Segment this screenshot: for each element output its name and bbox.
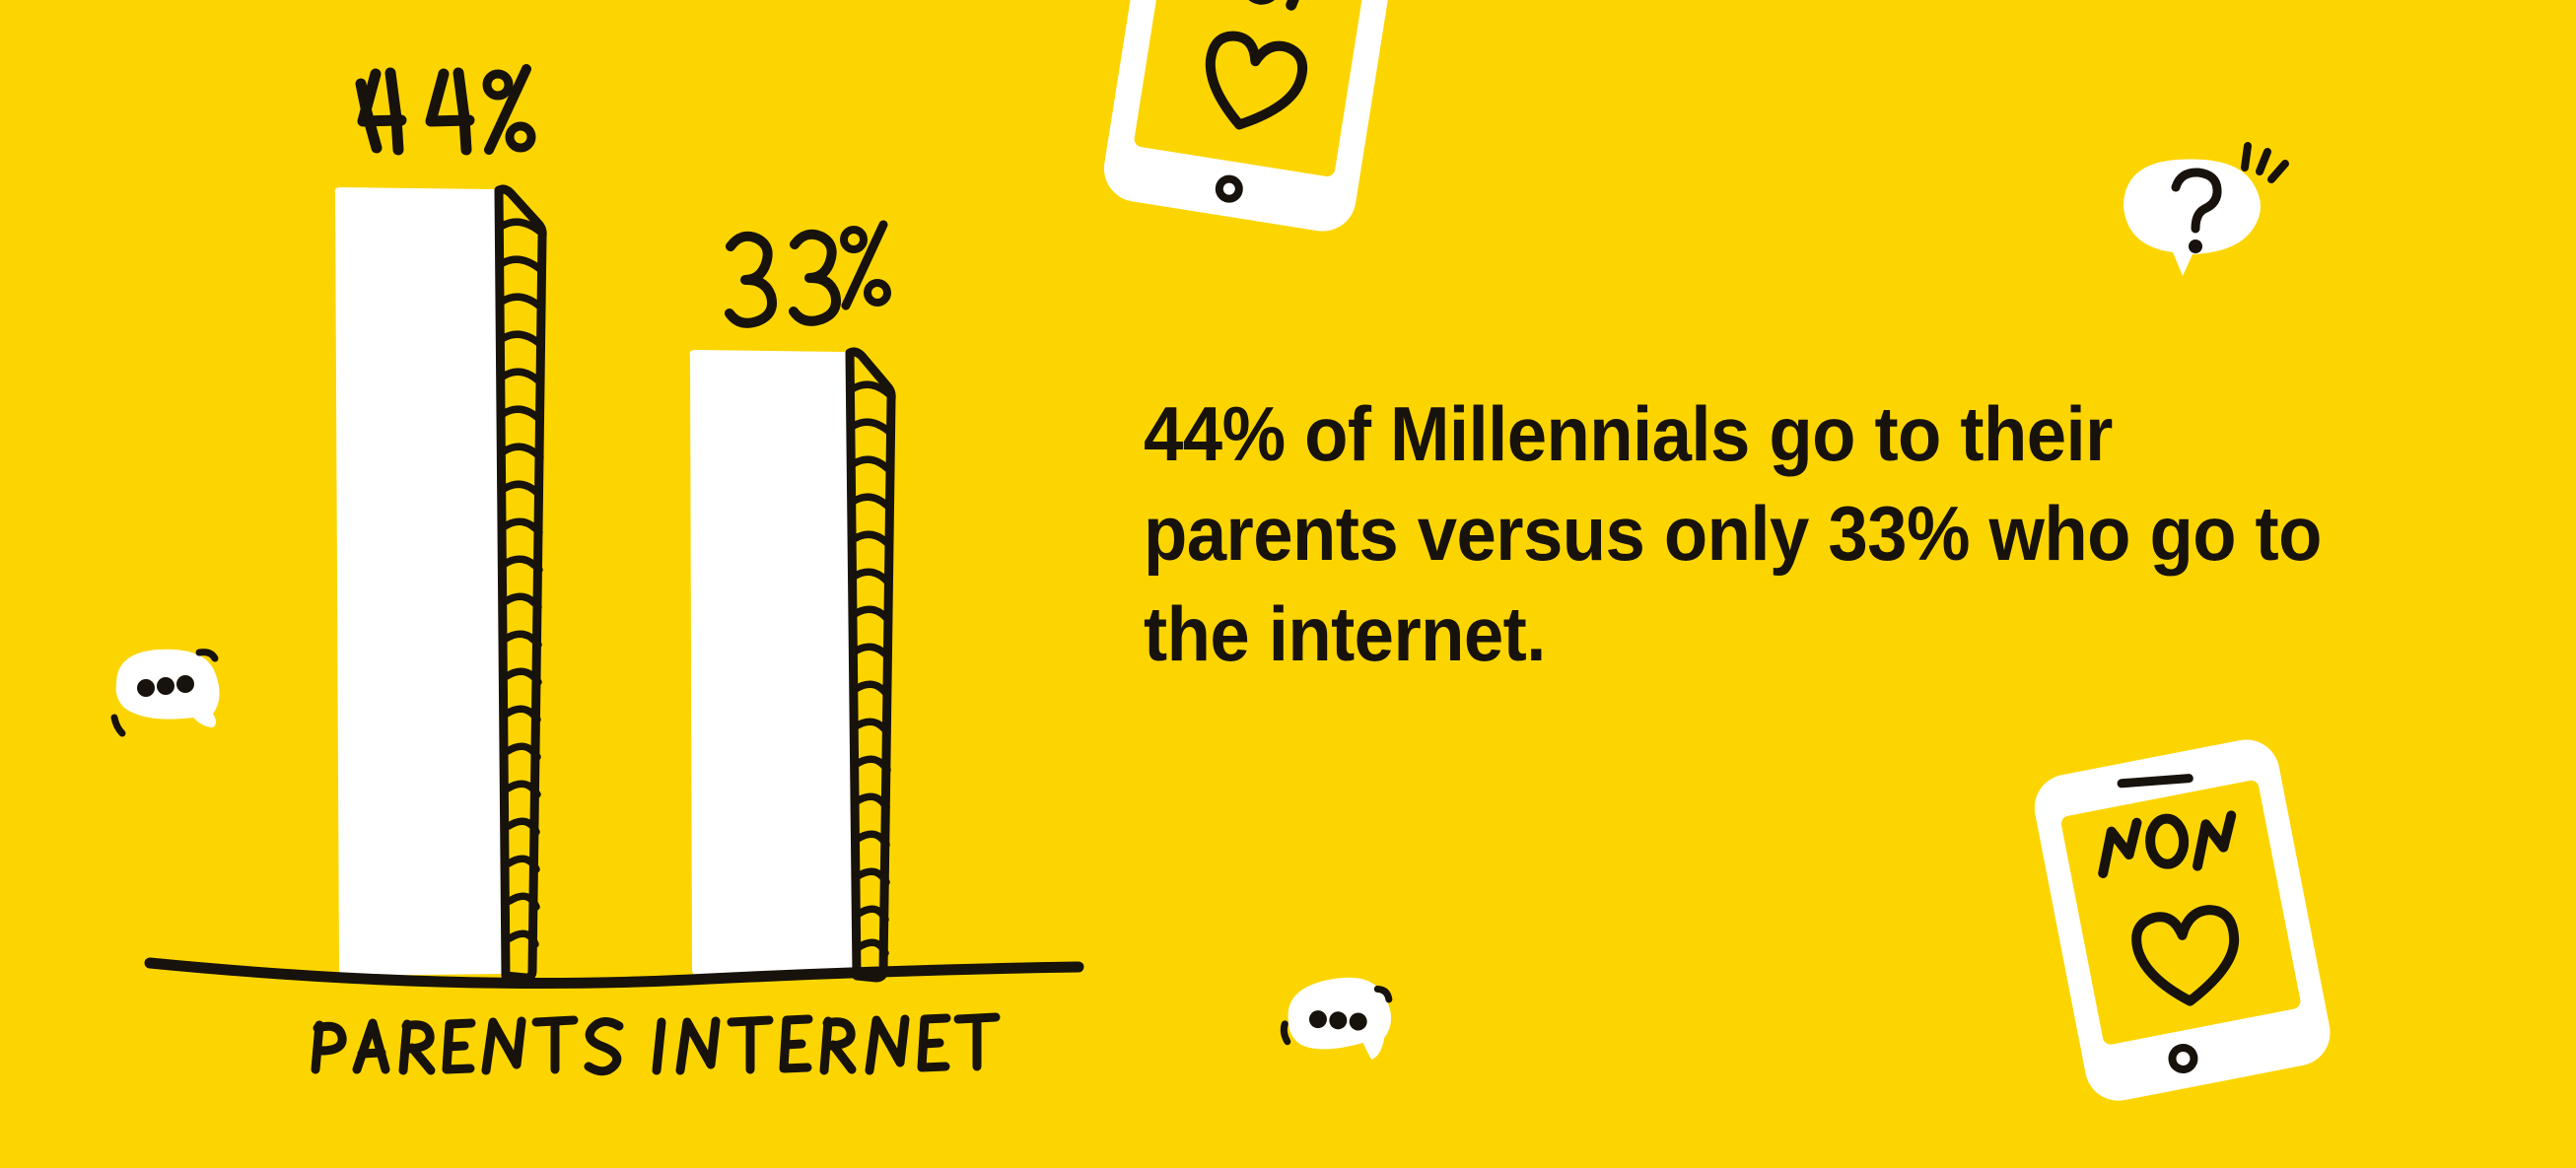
phone-bottom-graphic: MOM: [2011, 717, 2369, 1122]
bar-chart: 44% 33%: [0, 0, 1163, 1168]
typing-speech-bubble-middle: [1265, 948, 1429, 1101]
phone-top-screen: [1133, 0, 1369, 177]
bar-internet-face: [690, 350, 856, 976]
value-label-internet: [730, 225, 887, 323]
question-mark-dot: [2189, 240, 2202, 253]
headline-text: 44% of Millennials go to their parents v…: [1144, 384, 2363, 684]
value-label-parents: [361, 69, 531, 150]
phone-mom-top: MOM: [1079, 0, 1427, 264]
bar-parents: [335, 187, 543, 978]
phone-top-graphic: MOM: [1080, 0, 1428, 259]
category-label-parents: [315, 1020, 619, 1071]
bar-chart-graphic: 44% 33%: [0, 0, 1163, 1168]
emphasis-marks-icon: [2245, 146, 2285, 179]
dots-bubble-left-graphic: [103, 633, 250, 761]
chart-baseline: [150, 963, 1079, 984]
question-bubble-graphic: ?: [2102, 138, 2299, 296]
question-speech-bubble: ?: [2102, 138, 2299, 301]
category-label-internet: [657, 1017, 996, 1070]
bar-parents-face: [335, 187, 505, 976]
typing-speech-bubble-left: [103, 633, 250, 766]
infographic-canvas: 44% 33%: [0, 0, 2576, 1168]
phone-mom-bottom: MOM: [2011, 717, 2370, 1127]
bar-internet: [690, 350, 892, 978]
dots-bubble-mid-graphic: [1265, 948, 1429, 1096]
